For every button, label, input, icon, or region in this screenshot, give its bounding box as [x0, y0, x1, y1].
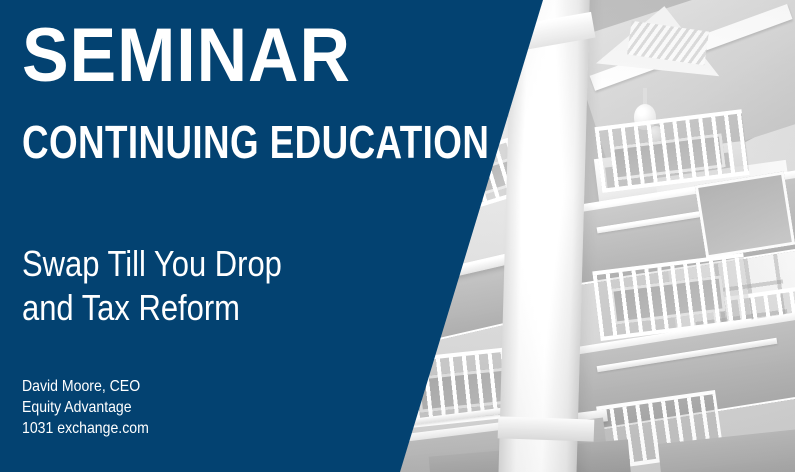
seminar-topic: Swap Till You Drop and Tax Reform — [22, 242, 282, 330]
page-title: SEMINAR — [22, 18, 351, 94]
banner-text-block: SEMINAR CONTINUING EDUCATION Swap Till Y… — [22, 0, 492, 472]
presenter-credits: David Moore, CEO Equity Advantage 1031 e… — [22, 376, 149, 439]
seminar-topic-line-1: Swap Till You Drop — [22, 242, 282, 286]
subtitle: CONTINUING EDUCATION — [22, 119, 489, 165]
seminar-topic-line-2: and Tax Reform — [22, 286, 282, 330]
seminar-banner: SEMINAR CONTINUING EDUCATION Swap Till Y… — [0, 0, 795, 472]
presenter-company: Equity Advantage — [22, 397, 149, 418]
presenter-name: David Moore, CEO — [22, 376, 149, 397]
presenter-website: 1031 exchange.com — [22, 418, 149, 439]
